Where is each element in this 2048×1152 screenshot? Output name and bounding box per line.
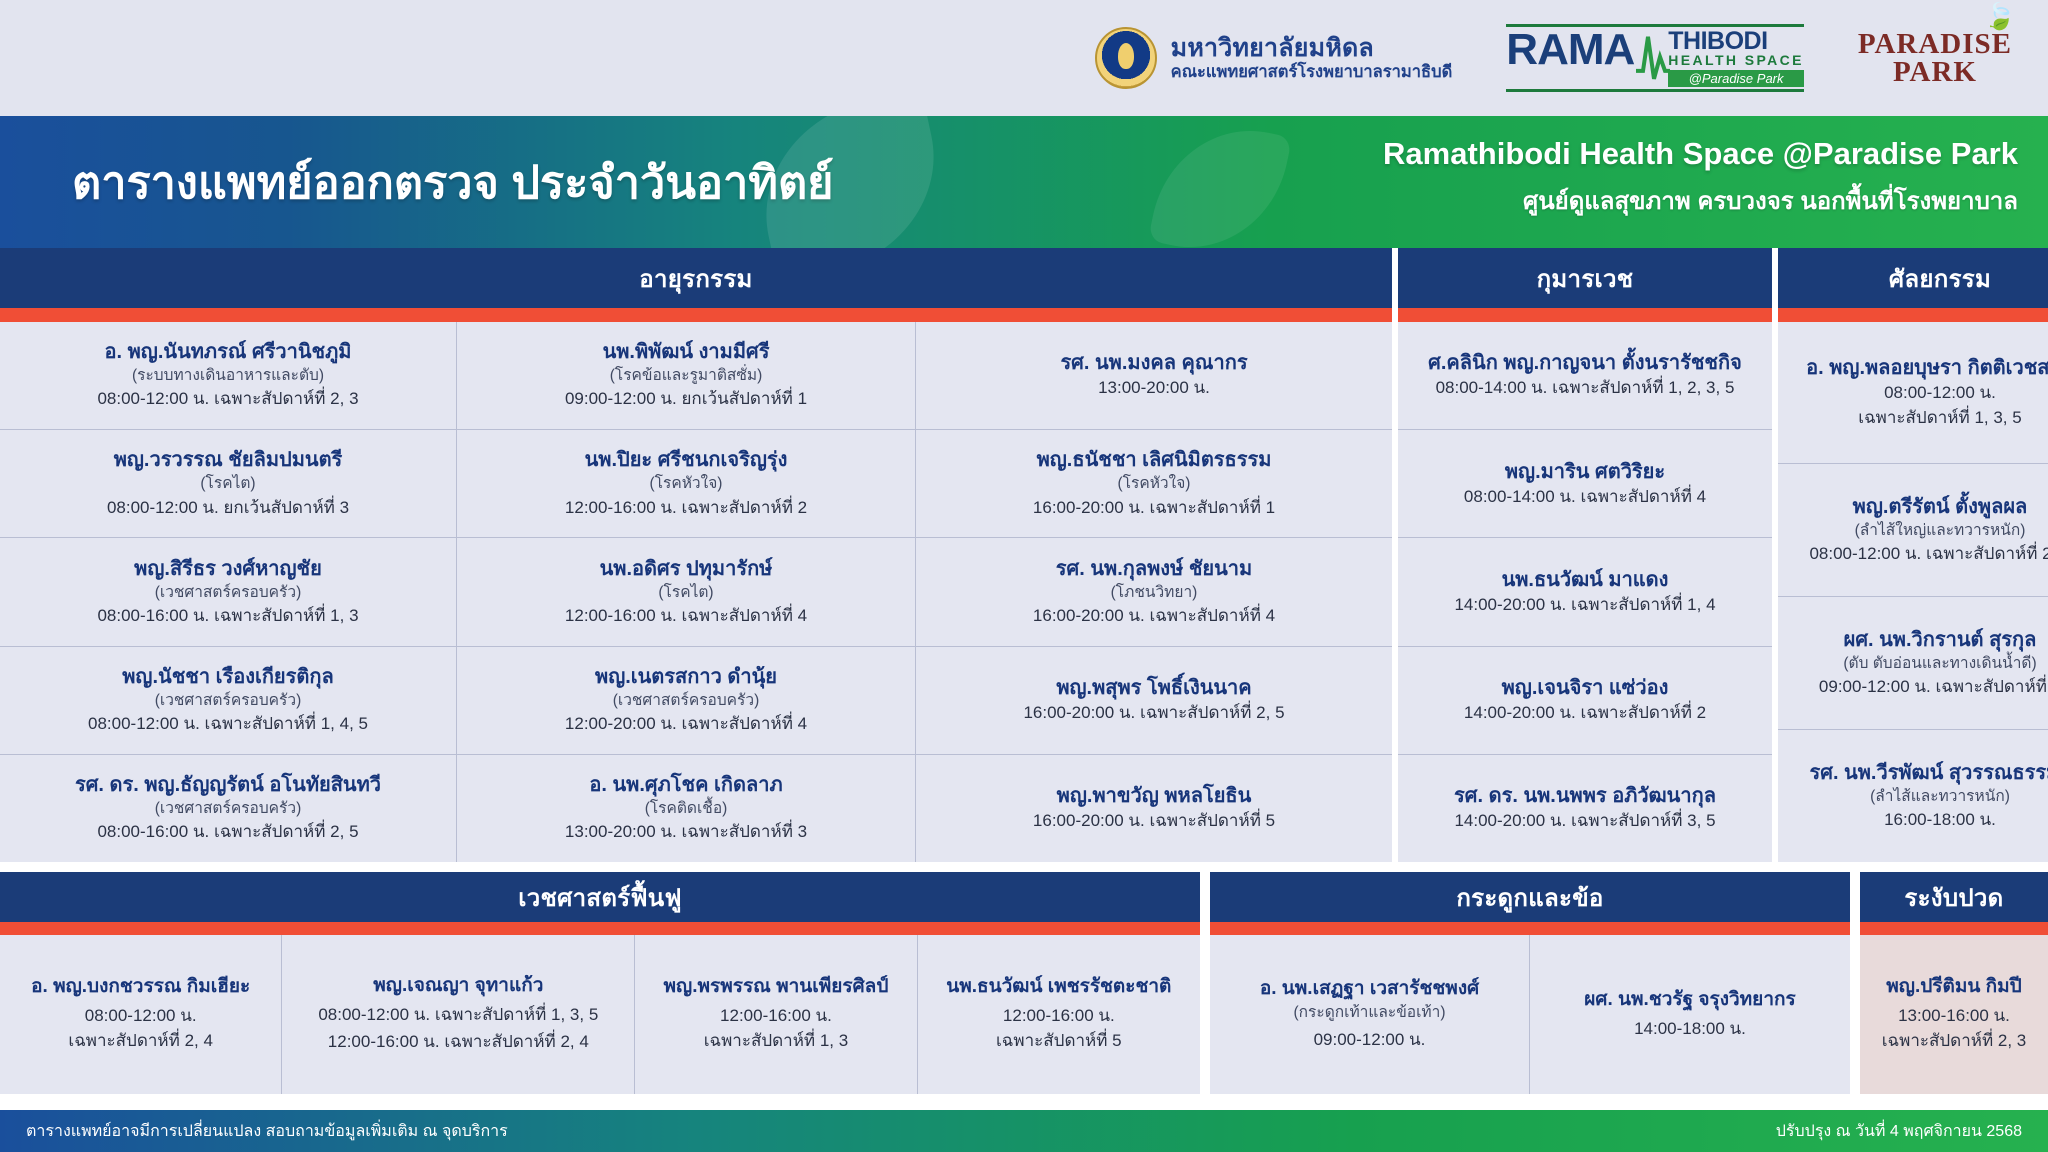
doctor-specialty: (ระบบทางเดินอาหารและตับ) [132, 366, 324, 386]
doctor-name: พญ.เนตรสกาว ดำนุ้ย [595, 665, 777, 689]
doctor-name: ศ.คลินิก พญ.กาญจนา ตั้งนรารัชชกิจ [1428, 351, 1742, 375]
doctor-time: 08:00-12:00 น. เฉพาะสัปดาห์ที่ 2, 4 [1809, 543, 2048, 566]
doctor-name: พญ.นัชชา เรืองเกียรติกุล [122, 665, 334, 689]
doctor-time: 14:00-20:00 น. เฉพาะสัปดาห์ที่ 2 [1464, 702, 1706, 725]
page-title: ตารางแพทย์ออกตรวจ ประจำวันอาทิตย์ [72, 146, 834, 218]
doctor-time: 09:00-12:00 น. [1314, 1029, 1426, 1052]
doctor-entry: พญ.เนตรสกาว ดำนุ้ย (เวชศาสตร์ครอบครัว) 1… [457, 647, 916, 755]
doctor-time: 12:00-16:00 น. [1003, 1005, 1115, 1028]
doctor-entry: นพ.ธนวัฒน์ มาแดง 14:00-20:00 น. เฉพาะสัป… [1398, 538, 1772, 646]
doctor-name: รศ. นพ.วีรพัฒน์ สุวรรณธรรมา [1810, 761, 2048, 785]
mahidol-faculty-th: คณะแพทยศาสตร์โรงพยาบาลรามาธิบดี [1171, 63, 1453, 82]
section-surgery: ศัลยกรรม อ. พญ.พลอยบุษรา กิตติเวชสกุล 08… [1772, 248, 2048, 862]
doctor-time: 08:00-12:00 น. [1884, 382, 1996, 405]
section-accent-bar-internal-medicine [0, 308, 1392, 322]
section-header-pain: ระงับปวด [1860, 872, 2048, 922]
doctor-name: อ. นพ.เสฏฐา เวสารัชชพงศ์ [1260, 978, 1479, 1001]
doctor-time: 13:00-16:00 น. [1898, 1005, 2010, 1028]
doctor-time: 12:00-16:00 น. [720, 1005, 832, 1028]
doctor-name: พญ.พสุพร โพธิ์เงินนาค [1056, 676, 1251, 700]
doctor-time: 14:00-20:00 น. เฉพาะสัปดาห์ที่ 3, 5 [1454, 810, 1715, 833]
section-accent-bar-pediatrics [1398, 308, 1772, 322]
doctor-entry: พญ.ธนัชชา เลิศนิมิตรธรรม (โรคหัวใจ) 16:0… [916, 430, 1392, 538]
doctor-name: นพ.ปิยะ ศรีชนกเจริญรุ่ง [585, 448, 788, 472]
doctor-specialty: (เวชศาสตร์ครอบครัว) [613, 691, 759, 711]
doctor-name: พญ.ปรีติมน กิมปี [1886, 976, 2021, 999]
hero-subtitles: Ramathibodi Health Space @Paradise Park … [1383, 136, 2018, 220]
section-header-internal-medicine: อายุรกรรม [0, 248, 1392, 308]
doctor-entry: พญ.มาริน ศตวิริยะ 08:00-14:00 น. เฉพาะสั… [1398, 430, 1772, 538]
section-orthopedics: กระดูกและข้อ อ. นพ.เสฏฐา เวสารัชชพงศ์ (ก… [1210, 872, 1850, 1094]
section-accent-bar-orthopedics [1210, 922, 1850, 935]
doctor-time-2: 12:00-16:00 น. เฉพาะสัปดาห์ที่ 2, 4 [328, 1031, 589, 1054]
schedule-bottom-board: เวชศาสตร์ฟื้นฟู อ. พญ.บงกชวรรณ กิมเฮียะ … [0, 872, 2048, 1094]
section-header-pediatrics: กุมารเวช [1398, 248, 1772, 308]
doctor-entry: พญ.พรพรรณ พานเพียรศิลป์ 12:00-16:00 น. เ… [635, 935, 917, 1094]
doctor-time: 12:00-20:00 น. เฉพาะสัปดาห์ที่ 4 [565, 713, 807, 736]
doctor-specialty: (ลำไส้ใหญ่และทวารหนัก) [1855, 521, 2026, 541]
section-header-surgery: ศัลยกรรม [1778, 248, 2048, 308]
doctor-name: นพ.พิพัฒน์ งามมีศรี [603, 340, 770, 364]
doctor-specialty: (เวชศาสตร์ครอบครัว) [155, 691, 301, 711]
doctor-specialty: (โรคไต) [658, 583, 713, 603]
doctor-time-2: เฉพาะสัปดาห์ที่ 1, 3 [704, 1030, 849, 1053]
doctor-entry: พญ.เจณญา จุทาแก้ว 08:00-12:00 น. เฉพาะสั… [282, 935, 635, 1094]
internal-medicine-col-2: นพ.พิพัฒน์ งามมีศรี (โรคข้อและรูมาติสซั่… [457, 322, 916, 862]
doctor-specialty: (โรคไต) [200, 474, 255, 494]
doctor-name: นพ.อดิศร ปทุมารักษ์ [600, 557, 773, 581]
doctor-name: พญ.มาริน ศตวิริยะ [1505, 460, 1665, 484]
doctor-time: 08:00-12:00 น. ยกเว้นสัปดาห์ที่ 3 [107, 497, 349, 520]
doctor-time: 08:00-12:00 น. เฉพาะสัปดาห์ที่ 2, 3 [97, 388, 358, 411]
doctor-entry: พญ.พสุพร โพธิ์เงินนาค 16:00-20:00 น. เฉพ… [916, 647, 1392, 755]
section-internal-medicine: อายุรกรรม อ. พญ.นันทภรณ์ ศรีวานิชภูมิ (ร… [0, 248, 1392, 862]
section-accent-bar-pain [1860, 922, 2048, 935]
doctor-entry: อ. พญ.นันทภรณ์ ศรีวานิชภูมิ (ระบบทางเดิน… [0, 322, 457, 430]
doctor-time: 08:00-14:00 น. เฉพาะสัปดาห์ที่ 1, 2, 3, … [1436, 377, 1735, 400]
doctor-entry: รศ. ดร. พญ.ธัญญรัตน์ อโนทัยสินทวี (เวชศา… [0, 755, 457, 862]
leaf-watermark-icon-2 [1148, 116, 1292, 248]
doctor-name: พญ.เจนจิรา แซ่ว่อง [1502, 676, 1669, 700]
leaf-watermark-icon [745, 116, 954, 248]
doctor-time: 08:00-16:00 น. เฉพาะสัปดาห์ที่ 1, 3 [97, 605, 358, 628]
doctor-time: 13:00-20:00 น. [1098, 377, 1210, 400]
rama-health-space-text: HEALTH SPACE [1668, 53, 1804, 68]
doctor-name: ผศ. นพ.ชวรัฐ จรุงวิทยากร [1584, 989, 1795, 1012]
doctor-entry: รศ. นพ.มงคล คุณากร 13:00-20:00 น. [916, 322, 1392, 430]
section-rehabilitation: เวชศาสตร์ฟื้นฟู อ. พญ.บงกชวรรณ กิมเฮียะ … [0, 872, 1200, 1094]
heartbeat-ekg-icon [1636, 29, 1670, 87]
doctor-time: 08:00-12:00 น. เฉพาะสัปดาห์ที่ 1, 4, 5 [88, 713, 368, 736]
rama-at-paradise-park-text: @Paradise Park [1668, 70, 1804, 87]
doctor-name: อ. พญ.พลอยบุษรา กิตติเวชสกุล [1806, 356, 2048, 380]
doctor-entry: นพ.ปิยะ ศรีชนกเจริญรุ่ง (โรคหัวใจ) 12:00… [457, 430, 916, 538]
doctor-name: นพ.ธนวัฒน์ เพชรรัชตะชาติ [946, 976, 1171, 999]
section-pediatrics: กุมารเวช ศ.คลินิก พญ.กาญจนา ตั้งนรารัชชก… [1392, 248, 1772, 862]
doctor-entry: พญ.นัชชา เรืองเกียรติกุล (เวชศาสตร์ครอบค… [0, 647, 457, 755]
doctor-time: 13:00-20:00 น. เฉพาะสัปดาห์ที่ 3 [565, 821, 807, 844]
doctor-time: 09:00-12:00 น. เฉพาะสัปดาห์ที่ 2 [1819, 676, 2048, 699]
doctor-time: 08:00-16:00 น. เฉพาะสัปดาห์ที่ 2, 5 [97, 821, 358, 844]
doctor-time: 14:00-20:00 น. เฉพาะสัปดาห์ที่ 1, 4 [1454, 594, 1715, 617]
footer-note: ตารางแพทย์อาจมีการเปลี่ยนแปลง สอบถามข้อม… [26, 1119, 508, 1144]
doctor-entry: รศ. นพ.วีรพัฒน์ สุวรรณธรรมา (ลำไส้และทวา… [1778, 730, 2048, 862]
doctor-name: พญ.ธนัชชา เลิศนิมิตรธรรม [1037, 448, 1272, 472]
doctor-entry: อ. นพ.เสฏฐา เวสารัชชพงศ์ (กระดูกเท้าและข… [1210, 935, 1530, 1094]
doctor-entry: พญ.ปรีติมน กิมปี 13:00-16:00 น. เฉพาะสัป… [1860, 935, 2048, 1094]
footer-updated-date: ปรับปรุง ณ วันที่ 4 พฤศจิกายน 2568 [1776, 1119, 2022, 1144]
mahidol-logo: มหาวิทยาลัยมหิดล คณะแพทยศาสตร์โรงพยาบาลร… [1095, 27, 1453, 89]
doctor-entry: นพ.อดิศร ปทุมารักษ์ (โรคไต) 12:00-16:00 … [457, 538, 916, 646]
doctor-time: 09:00-12:00 น. ยกเว้นสัปดาห์ที่ 1 [565, 388, 807, 411]
doctor-name: อ. พญ.บงกชวรรณ กิมเฮียะ [31, 976, 250, 999]
doctor-time-2: เฉพาะสัปดาห์ที่ 1, 3, 5 [1858, 407, 2021, 430]
doctor-time: 08:00-12:00 น. [85, 1005, 197, 1028]
doctor-specialty: (เวชศาสตร์ครอบครัว) [155, 583, 301, 603]
doctor-name: พญ.สิรีธร วงศ์หาญชัย [134, 557, 322, 581]
doctor-entry: พญ.วรวรรณ ชัยลิมปมนตรี (โรคไต) 08:00-12:… [0, 430, 457, 538]
hero-subtitle-en: Ramathibodi Health Space @Paradise Park [1383, 136, 2018, 172]
doctor-specialty: (โรคติดเชื้อ) [645, 799, 728, 819]
doctor-entry: พญ.สิรีธร วงศ์หาญชัย (เวชศาสตร์ครอบครัว)… [0, 538, 457, 646]
doctor-name: พญ.พรพรรณ พานเพียรศิลป์ [664, 976, 889, 999]
doctor-name: อ. นพ.ศุภโชค เกิดลาภ [589, 773, 782, 797]
doctor-entry: อ. พญ.พลอยบุษรา กิตติเวชสกุล 08:00-12:00… [1778, 322, 2048, 464]
hero-subtitle-th: ศูนย์ดูแลสุขภาพ ครบวงจร นอกพื้นที่โรงพยา… [1383, 181, 2018, 220]
doctor-time: 08:00-12:00 น. เฉพาะสัปดาห์ที่ 1, 3, 5 [318, 1004, 598, 1027]
doctor-specialty: (โรคข้อและรูมาติสซั่ม) [610, 366, 763, 386]
paradise-leaf-icon: 🍃 [1984, 4, 2016, 29]
mahidol-seal-icon [1095, 27, 1157, 89]
doctor-time: 16:00-20:00 น. เฉพาะสัปดาห์ที่ 2, 5 [1023, 702, 1284, 725]
doctor-specialty: (โภชนวิทยา) [1111, 583, 1198, 603]
doctor-time: 12:00-16:00 น. เฉพาะสัปดาห์ที่ 2 [565, 497, 807, 520]
doctor-name: ผศ. นพ.วิกรานต์ สุรกุล [1844, 628, 2037, 652]
doctor-entry: พญ.พาขวัญ พหลโยธิน 16:00-20:00 น. เฉพาะส… [916, 755, 1392, 862]
doctor-name: อ. พญ.นันทภรณ์ ศรีวานิชภูมิ [105, 340, 352, 364]
hero-banner: ตารางแพทย์ออกตรวจ ประจำวันอาทิตย์ Ramath… [0, 116, 2048, 248]
doctor-specialty: (ลำไส้และทวารหนัก) [1870, 787, 2010, 807]
doctor-time: 16:00-20:00 น. เฉพาะสัปดาห์ที่ 5 [1033, 810, 1275, 833]
paradise-park-logo: 🍃 PARADISE PARK [1858, 30, 2012, 87]
doctor-name: รศ. ดร. นพ.นพพร อภิวัฒนากุล [1454, 784, 1716, 808]
doctor-entry: อ. พญ.บงกชวรรณ กิมเฮียะ 08:00-12:00 น. เ… [0, 935, 282, 1094]
paradise-line2: PARK [1858, 58, 2012, 86]
internal-medicine-col-3: รศ. นพ.มงคล คุณากร 13:00-20:00 น. พญ.ธนั… [916, 322, 1392, 862]
section-accent-bar-surgery [1778, 308, 2048, 322]
doctor-entry: ศ.คลินิก พญ.กาญจนา ตั้งนรารัชชกิจ 08:00-… [1398, 322, 1772, 430]
doctor-time: 08:00-14:00 น. เฉพาะสัปดาห์ที่ 4 [1464, 486, 1706, 509]
doctor-entry: พญ.เจนจิรา แซ่ว่อง 14:00-20:00 น. เฉพาะส… [1398, 647, 1772, 755]
doctor-specialty: (โรคหัวใจ) [1118, 474, 1191, 494]
doctor-entry: นพ.พิพัฒน์ งามมีศรี (โรคข้อและรูมาติสซั่… [457, 322, 916, 430]
section-header-rehabilitation: เวชศาสตร์ฟื้นฟู [0, 872, 1200, 922]
doctor-name: พญ.ตรีรัตน์ ตั้งพูลผล [1853, 495, 2028, 519]
section-accent-bar-rehabilitation [0, 922, 1200, 935]
doctor-time-2: เฉพาะสัปดาห์ที่ 2, 3 [1882, 1030, 2027, 1053]
paradise-line1: PARADISE [1858, 30, 2012, 58]
doctor-specialty: (โรคหัวใจ) [650, 474, 723, 494]
doctor-time: 16:00-18:00 น. [1884, 809, 1996, 832]
doctor-entry: พญ.ตรีรัตน์ ตั้งพูลผล (ลำไส้ใหญ่และทวารห… [1778, 464, 2048, 597]
internal-medicine-col-1: อ. พญ.นันทภรณ์ ศรีวานิชภูมิ (ระบบทางเดิน… [0, 322, 457, 862]
rama-wordmark: RAMA [1506, 29, 1636, 87]
doctor-time: 12:00-16:00 น. เฉพาะสัปดาห์ที่ 4 [565, 605, 807, 628]
rama-health-space-logo: RAMA THIBODI HEALTH SPACE @Paradise Park [1506, 24, 1804, 92]
section-header-orthopedics: กระดูกและข้อ [1210, 872, 1850, 922]
doctor-entry: รศ. ดร. นพ.นพพร อภิวัฒนากุล 14:00-20:00 … [1398, 755, 1772, 862]
doctor-name: รศ. นพ.กุลพงษ์ ชัยนาม [1056, 557, 1252, 581]
doctor-specialty: (กระดูกเท้าและข้อเท้า) [1294, 1003, 1446, 1023]
logo-strip: มหาวิทยาลัยมหิดล คณะแพทยศาสตร์โรงพยาบาลร… [0, 0, 2048, 116]
doctor-entry: ผศ. นพ.วิกรานต์ สุรกุล (ตับ ตับอ่อนและทา… [1778, 597, 2048, 730]
section-pain: ระงับปวด พญ.ปรีติมน กิมปี 13:00-16:00 น.… [1860, 872, 2048, 1094]
doctor-name: นพ.ธนวัฒน์ มาแดง [1502, 568, 1669, 592]
mahidol-name-th: มหาวิทยาลัยมหิดล [1171, 34, 1453, 63]
schedule-poster: มหาวิทยาลัยมหิดล คณะแพทยศาสตร์โรงพยาบาลร… [0, 0, 2048, 1152]
doctor-specialty: (เวชศาสตร์ครอบครัว) [155, 799, 301, 819]
doctor-name: พญ.เจณญา จุทาแก้ว [373, 975, 543, 998]
doctor-time: 16:00-20:00 น. เฉพาะสัปดาห์ที่ 1 [1033, 497, 1275, 520]
doctor-name: พญ.พาขวัญ พหลโยธิน [1057, 784, 1252, 808]
doctor-entry: ผศ. นพ.ชวรัฐ จรุงวิทยากร 14:00-18:00 น. [1530, 935, 1850, 1094]
footer-bar: ตารางแพทย์อาจมีการเปลี่ยนแปลง สอบถามข้อม… [0, 1110, 2048, 1152]
doctor-time: 16:00-20:00 น. เฉพาะสัปดาห์ที่ 4 [1033, 605, 1275, 628]
doctor-specialty: (ตับ ตับอ่อนและทางเดินน้ำดี) [1843, 654, 2036, 674]
doctor-time-2: เฉพาะสัปดาห์ที่ 5 [996, 1030, 1122, 1053]
schedule-top-board: อายุรกรรม อ. พญ.นันทภรณ์ ศรีวานิชภูมิ (ร… [0, 248, 2048, 862]
doctor-name: พญ.วรวรรณ ชัยลิมปมนตรี [114, 448, 343, 472]
doctor-name: รศ. ดร. พญ.ธัญญรัตน์ อโนทัยสินทวี [75, 773, 381, 797]
doctor-time-2: เฉพาะสัปดาห์ที่ 2, 4 [68, 1030, 213, 1053]
doctor-entry: นพ.ธนวัฒน์ เพชรรัชตะชาติ 12:00-16:00 น. … [918, 935, 1200, 1094]
rama-thibodi-text: THIBODI [1668, 29, 1804, 53]
doctor-time: 14:00-18:00 น. [1634, 1018, 1746, 1041]
doctor-name: รศ. นพ.มงคล คุณากร [1060, 351, 1247, 375]
doctor-entry: รศ. นพ.กุลพงษ์ ชัยนาม (โภชนวิทยา) 16:00-… [916, 538, 1392, 646]
doctor-entry: อ. นพ.ศุภโชค เกิดลาภ (โรคติดเชื้อ) 13:00… [457, 755, 916, 862]
